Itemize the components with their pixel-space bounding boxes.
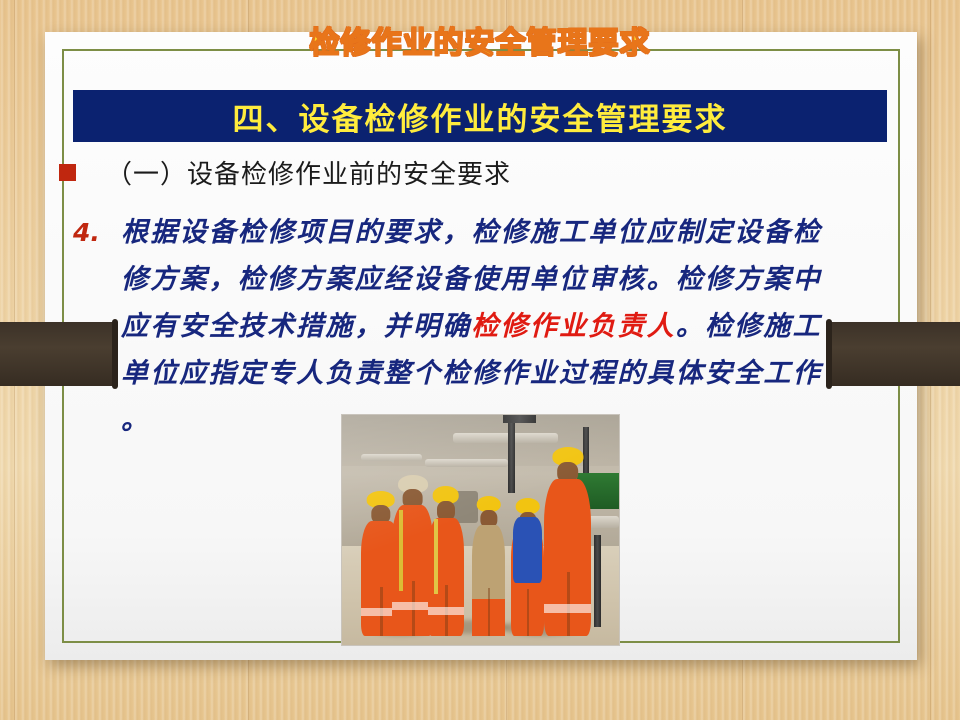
- body-line-text: 修方案，检修方案应经设备使用单位审核。检修方案中: [121, 257, 822, 296]
- decor-rod-right: [826, 322, 960, 386]
- body-line-text: 应有安全技术措施，并明确: [121, 304, 471, 343]
- site-photo-frame: [341, 414, 620, 646]
- body-line-text: 单位应指定专人负责整个检修作业过程的具体安全工作: [121, 351, 822, 390]
- photo-pipe: [453, 433, 558, 442]
- worker-figure: [428, 486, 464, 636]
- worker-leg-split: [488, 588, 490, 636]
- rod-cap-icon: [826, 319, 832, 389]
- photo-post: [508, 415, 515, 493]
- photo-pipe: [425, 459, 508, 467]
- body-line-text: 。: [121, 398, 150, 437]
- photo-beam: [503, 415, 536, 423]
- body-line: 应有安全技术措施，并明确检修作业负责人。检修施工: [73, 304, 903, 351]
- body-line-text: 。检修施工: [676, 304, 822, 343]
- item-number: 4.: [73, 218, 121, 247]
- photo-post: [594, 535, 601, 627]
- square-bullet-icon: [59, 164, 76, 181]
- body-line: 单位应指定专人负责整个检修作业过程的具体安全工作: [73, 351, 903, 398]
- body-line: 4. 根据设备检修项目的要求，检修施工单位应制定设备检: [73, 210, 903, 257]
- subheading-row: （一）设备检修作业前的安全要求: [59, 154, 511, 191]
- subheading-text: （一）设备检修作业前的安全要求: [106, 154, 511, 191]
- highlighted-phrase: 检修作业负责人: [471, 304, 675, 343]
- decor-rod-left: [0, 322, 118, 386]
- worker-leg-split: [527, 589, 529, 636]
- section-title-text: 四、设备检修作业的安全管理要求: [233, 94, 728, 139]
- worker-figure-foreground: [544, 447, 591, 636]
- slide-canvas: 四、设备检修作业的安全管理要求 （一）设备检修作业前的安全要求 4. 根据设备检…: [0, 0, 960, 720]
- body-line-text: 根据设备检修项目的要求，检修施工单位应制定设备检: [121, 210, 822, 249]
- photo-pipe: [361, 454, 422, 461]
- body-text-block: 4. 根据设备检修项目的要求，检修施工单位应制定设备检 修方案，检修方案应经设备…: [73, 210, 903, 445]
- site-photo: [342, 415, 619, 645]
- hi-vis-stripe: [428, 607, 464, 614]
- hi-vis-stripe: [544, 604, 591, 613]
- section-title-banner: 四、设备检修作业的安全管理要求: [73, 90, 887, 142]
- body-line: 修方案，检修方案应经设备使用单位审核。检修方案中: [73, 257, 903, 304]
- worker-figure: [472, 496, 505, 636]
- safety-harness: [434, 519, 437, 594]
- safety-harness: [399, 510, 403, 591]
- rod-cap-icon: [112, 319, 118, 389]
- blue-vest: [513, 517, 542, 583]
- outlined-header-title: 检修作业的安全管理要求: [0, 18, 960, 62]
- worker-figure: [511, 498, 544, 636]
